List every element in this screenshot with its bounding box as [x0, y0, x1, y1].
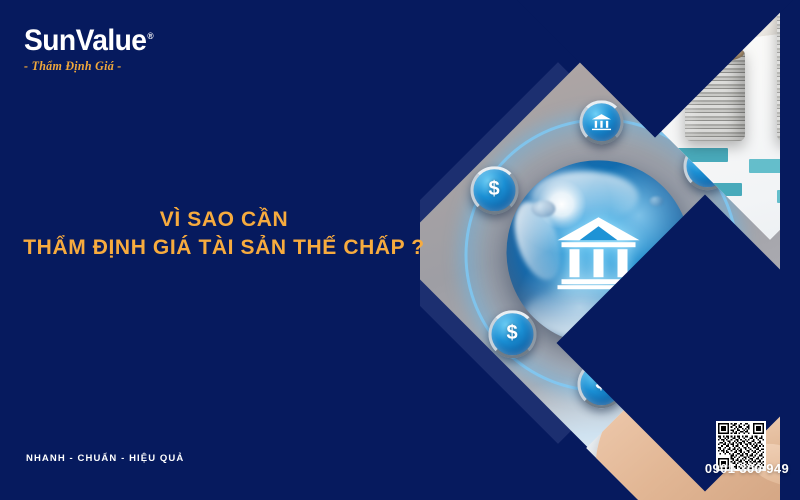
logo-subtitle: - Thẩm Định Giá - [24, 59, 226, 74]
logo-wordmark: SunValue® [24, 26, 153, 56]
headline-line-1: VÌ SAO CẦN [0, 206, 448, 234]
headline-line-2: THẨM ĐỊNH GIÁ TÀI SẢN THẾ CHẤP ? [0, 234, 448, 262]
dollar-coin-icon-lower-left: $ [488, 310, 536, 358]
logo-word-text: SunValue [24, 24, 146, 57]
footer-tagline: NHANH - CHUẨN - HIỆU QUẢ [26, 453, 184, 464]
banner-canvas: £ $ $ $ [0, 0, 800, 500]
navy-mask-right-edge [780, 0, 800, 500]
dollar-coin-icon-upper-left: $ [470, 166, 518, 214]
bank-glyph [591, 113, 611, 131]
bank-coin-icon [579, 100, 623, 144]
brand-logo[interactable]: SunValue® - Thẩm Định Giá - [24, 26, 234, 74]
contact-phone-number[interactable]: 0901 300 949 [697, 461, 797, 476]
headline-block: VÌ SAO CẦN THẨM ĐỊNH GIÁ TÀI SẢN THẾ CHẤ… [0, 206, 448, 263]
registered-mark-icon: ® [147, 31, 153, 41]
